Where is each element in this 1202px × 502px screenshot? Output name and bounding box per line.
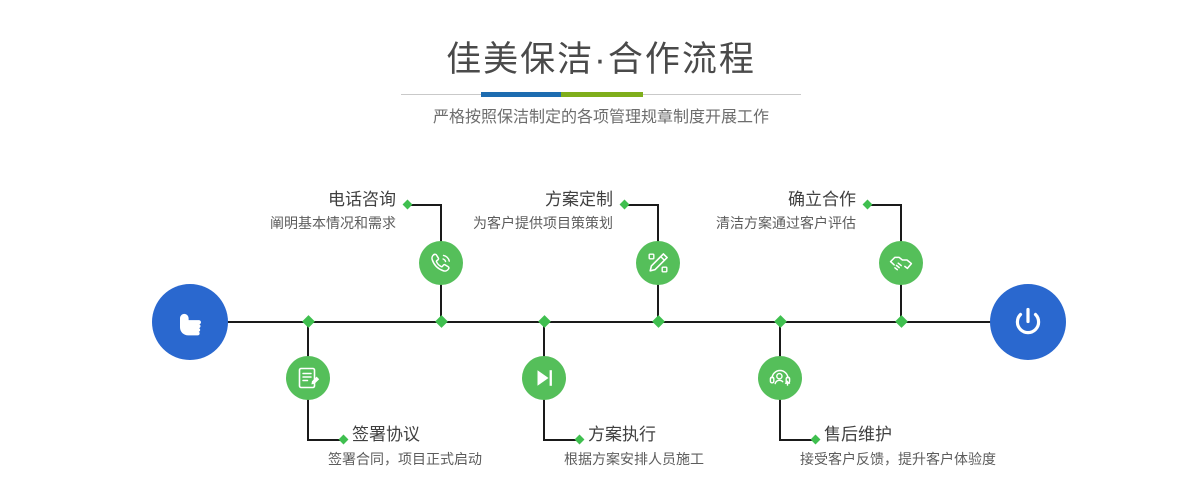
pencil-edit-icon bbox=[644, 249, 672, 277]
step-4-node bbox=[522, 356, 566, 400]
step-5-desc: 清洁方案通过客户评估 bbox=[564, 213, 856, 233]
step-6-axis-marker bbox=[774, 315, 787, 328]
step-3-axis-marker bbox=[652, 315, 665, 328]
step-3-node bbox=[636, 241, 680, 285]
step-3-branch-horizontal bbox=[627, 204, 659, 206]
handshake-icon bbox=[887, 249, 915, 277]
divider-segment-green bbox=[561, 92, 643, 97]
step-5-branch-horizontal bbox=[870, 204, 902, 206]
step-2-axis-marker bbox=[302, 315, 315, 328]
step-2-node bbox=[286, 356, 330, 400]
step-6-desc: 接受客户反馈，提升客户体验度 bbox=[800, 449, 1160, 469]
customer-service-add-icon bbox=[766, 364, 794, 392]
step-2-label-marker bbox=[339, 435, 349, 445]
step-1-node bbox=[419, 241, 463, 285]
title-divider bbox=[401, 92, 801, 98]
divider-segment-blue bbox=[481, 92, 561, 97]
step-5-node bbox=[879, 241, 923, 285]
timeline-end-endpoint bbox=[990, 284, 1066, 360]
power-button-icon bbox=[1006, 300, 1050, 344]
step-4-axis-marker bbox=[538, 315, 551, 328]
phone-call-icon bbox=[427, 249, 455, 277]
process-flow-diagram: 佳美保洁·合作流程 严格按照保洁制定的各项管理规章制度开展工作 bbox=[0, 0, 1202, 502]
step-3-label: 方案定制 bbox=[341, 189, 613, 211]
step-5-axis-marker bbox=[895, 315, 908, 328]
document-edit-icon bbox=[294, 364, 322, 392]
pointing-hand-icon bbox=[170, 302, 210, 342]
page-subtitle: 严格按照保洁制定的各项管理规章制度开展工作 bbox=[0, 106, 1202, 130]
page-title: 佳美保洁·合作流程 bbox=[0, 38, 1202, 82]
play-execute-icon bbox=[530, 364, 558, 392]
timeline-start-endpoint bbox=[152, 284, 228, 360]
step-6-label: 售后维护 bbox=[824, 424, 1144, 446]
step-5-label-marker bbox=[863, 200, 873, 210]
step-1-branch-horizontal bbox=[410, 204, 442, 206]
step-6-node bbox=[758, 356, 802, 400]
step-1-axis-marker bbox=[435, 315, 448, 328]
